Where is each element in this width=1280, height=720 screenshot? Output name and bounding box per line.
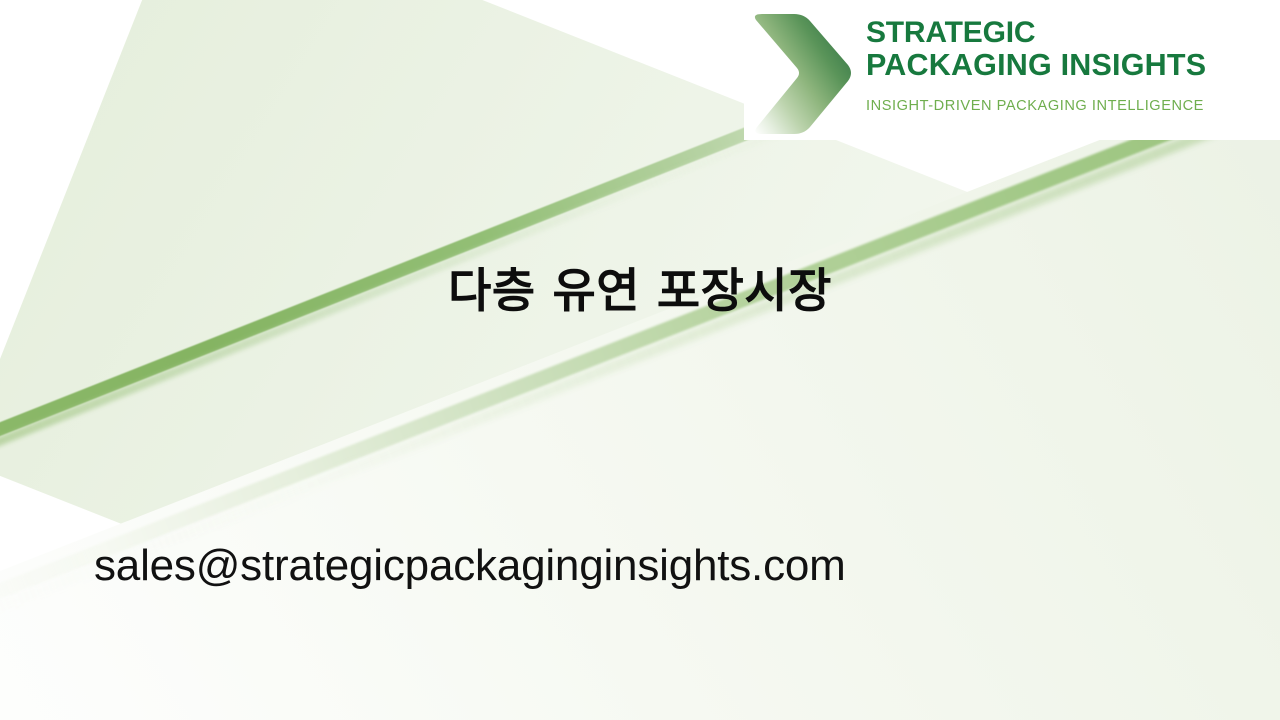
page-title: 다층 유연 포장시장 xyxy=(0,252,1280,321)
logo-line-1: STRATEGIC xyxy=(866,16,1276,49)
contact-email[interactable]: sales@strategicpackaginginsights.com xyxy=(94,541,846,591)
logo-line-2: PACKAGING INSIGHTS xyxy=(866,49,1276,82)
logo-wordmark: STRATEGIC PACKAGING INSIGHTS INSIGHT-DRI… xyxy=(866,16,1276,114)
chevron-mark-icon xyxy=(750,10,854,138)
logo-tagline: INSIGHT-DRIVEN PACKAGING INTELLIGENCE xyxy=(866,98,1276,114)
company-logo: STRATEGIC PACKAGING INSIGHTS INSIGHT-DRI… xyxy=(744,0,1280,140)
presentation-slide: STRATEGIC PACKAGING INSIGHTS INSIGHT-DRI… xyxy=(0,0,1280,720)
